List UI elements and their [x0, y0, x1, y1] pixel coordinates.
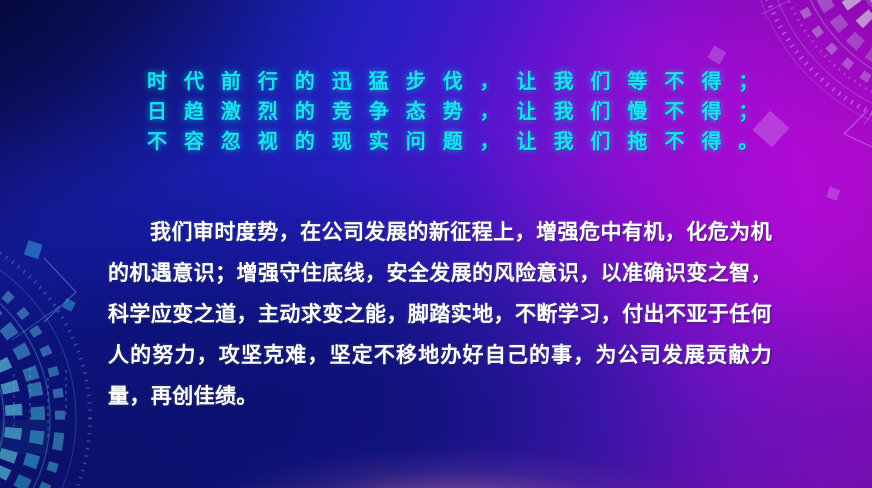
body-block: 我们审时度势，在公司发展的新征程上，增强危中有机，化危为机的机遇意识；增强守住底… [108, 190, 772, 437]
heading-line-1: 时 代 前 行 的 迅 猛 步 伐 ， 让 我 们 等 不 得 ； [147, 66, 747, 96]
presentation-slide: 时 代 前 行 的 迅 猛 步 伐 ， 让 我 们 等 不 得 ； 日 趋 激 … [0, 0, 872, 488]
heading-block: 时 代 前 行 的 迅 猛 步 伐 ， 让 我 们 等 不 得 ； 日 趋 激 … [147, 66, 747, 156]
heading-line-2: 日 趋 激 烈 的 竞 争 态 势 ， 让 我 们 慢 不 得 ； [147, 96, 747, 126]
body-paragraph: 我们审时度势，在公司发展的新征程上，增强危中有机，化危为机的机遇意识；增强守住底… [108, 211, 772, 416]
heading-line-3: 不 容 忽 视 的 现 实 问 题 ， 让 我 们 拖 不 得 。 [147, 126, 747, 156]
